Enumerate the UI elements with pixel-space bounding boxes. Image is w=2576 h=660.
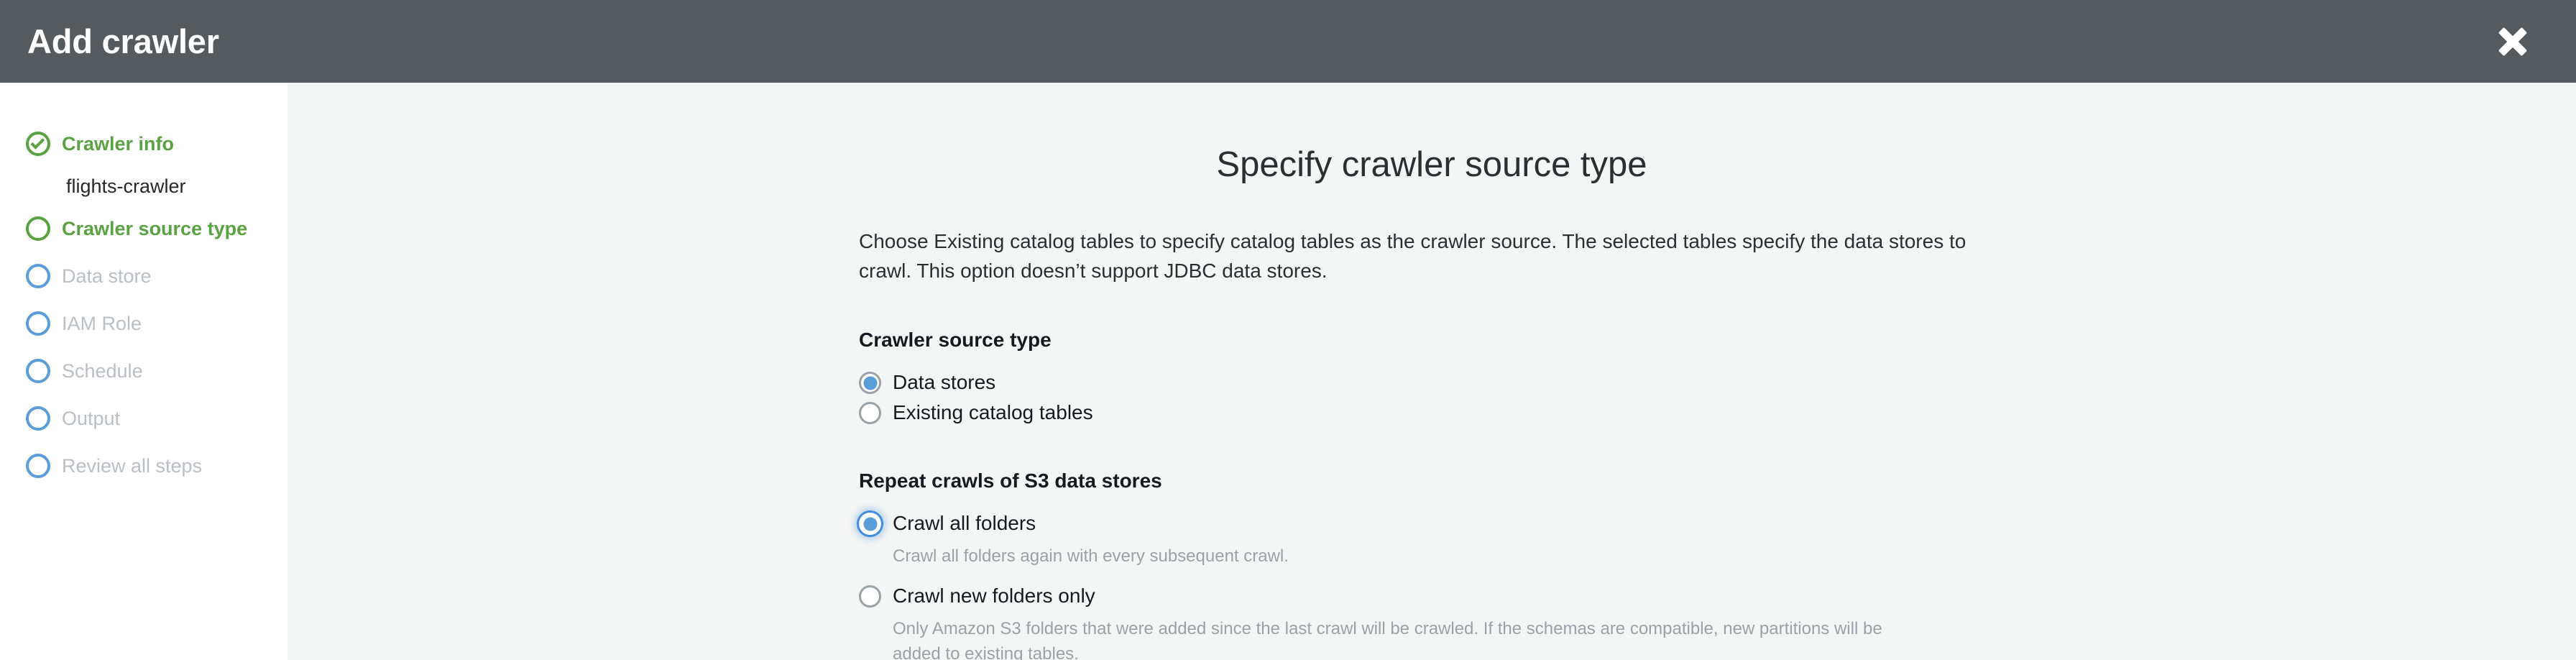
sidebar-item-label: Schedule: [62, 362, 143, 381]
circle-icon: [26, 264, 50, 288]
modal-body: Crawler info flights-crawler Crawler sou…: [0, 83, 2576, 660]
radio-option-data-stores[interactable]: Data stores: [859, 369, 1987, 396]
radio-label: Existing catalog tables: [893, 399, 1093, 426]
circle-icon: [26, 454, 50, 478]
radio-option-existing-catalog-tables[interactable]: Existing catalog tables: [859, 399, 1987, 426]
page-title: Add crawler: [27, 24, 219, 58]
sidebar-item-label: Crawler source type: [62, 219, 247, 239]
radio-help-crawl-all-folders: Crawl all folders again with every subse…: [859, 544, 1923, 569]
radio-button[interactable]: [859, 585, 881, 608]
close-button[interactable]: [2485, 14, 2540, 69]
sidebar-item-label: Review all steps: [62, 457, 202, 476]
circle-icon: [26, 216, 50, 241]
circle-icon: [26, 406, 50, 431]
crawler-source-type-heading: Crawler source type: [859, 330, 1987, 350]
close-icon: [2498, 27, 2527, 56]
circle-icon: [26, 311, 50, 336]
section-description: Choose Existing catalog tables to specif…: [859, 227, 1987, 285]
sidebar-item-label: IAM Role: [62, 314, 142, 334]
repeat-crawls-radio-group: Crawl all folders Crawl all folders agai…: [859, 510, 1987, 660]
sidebar-item-schedule[interactable]: Schedule: [0, 347, 287, 395]
radio-label: Crawl new folders only: [893, 582, 1095, 610]
sidebar-item-label: Data store: [62, 267, 152, 286]
radio-button[interactable]: [859, 372, 881, 394]
circle-icon: [26, 359, 50, 383]
sidebar-item-data-store[interactable]: Data store: [0, 252, 287, 300]
sidebar-item-label: Crawler info: [62, 134, 174, 154]
check-circle-icon: [26, 132, 50, 156]
sidebar-item-crawler-info-value: flights-crawler: [0, 168, 287, 205]
radio-option-crawl-new-folders-only[interactable]: Crawl new folders only: [859, 582, 1987, 610]
sidebar-item-crawler-source-type[interactable]: Crawler source type: [0, 205, 287, 252]
sidebar-item-iam-role[interactable]: IAM Role: [0, 300, 287, 347]
radio-label: Data stores: [893, 369, 995, 396]
repeat-crawls-heading: Repeat crawls of S3 data stores: [859, 471, 1987, 491]
sidebar-item-crawler-info[interactable]: Crawler info: [0, 120, 287, 168]
sidebar-item-review-all-steps[interactable]: Review all steps: [0, 442, 287, 490]
radio-option-crawl-all-folders[interactable]: Crawl all folders: [859, 510, 1987, 537]
main-content: Specify crawler source type Choose Exist…: [287, 83, 2576, 660]
radio-button[interactable]: [859, 402, 881, 424]
wizard-steps-sidebar: Crawler info flights-crawler Crawler sou…: [0, 83, 287, 660]
modal-header: Add crawler: [0, 0, 2576, 83]
add-crawler-modal: Add crawler Crawler info flights-crawler…: [0, 0, 2576, 660]
radio-label: Crawl all folders: [893, 510, 1036, 537]
radio-help-crawl-new-folders-only: Only Amazon S3 folders that were added s…: [859, 617, 1923, 660]
radio-button[interactable]: [859, 513, 881, 535]
crawler-source-type-radio-group: Data stores Existing catalog tables: [859, 369, 1987, 426]
content-column: Choose Existing catalog tables to specif…: [859, 183, 1987, 660]
section-title: Specify crawler source type: [287, 83, 2576, 183]
sidebar-item-output[interactable]: Output: [0, 395, 287, 442]
sidebar-item-label: Output: [62, 409, 120, 428]
